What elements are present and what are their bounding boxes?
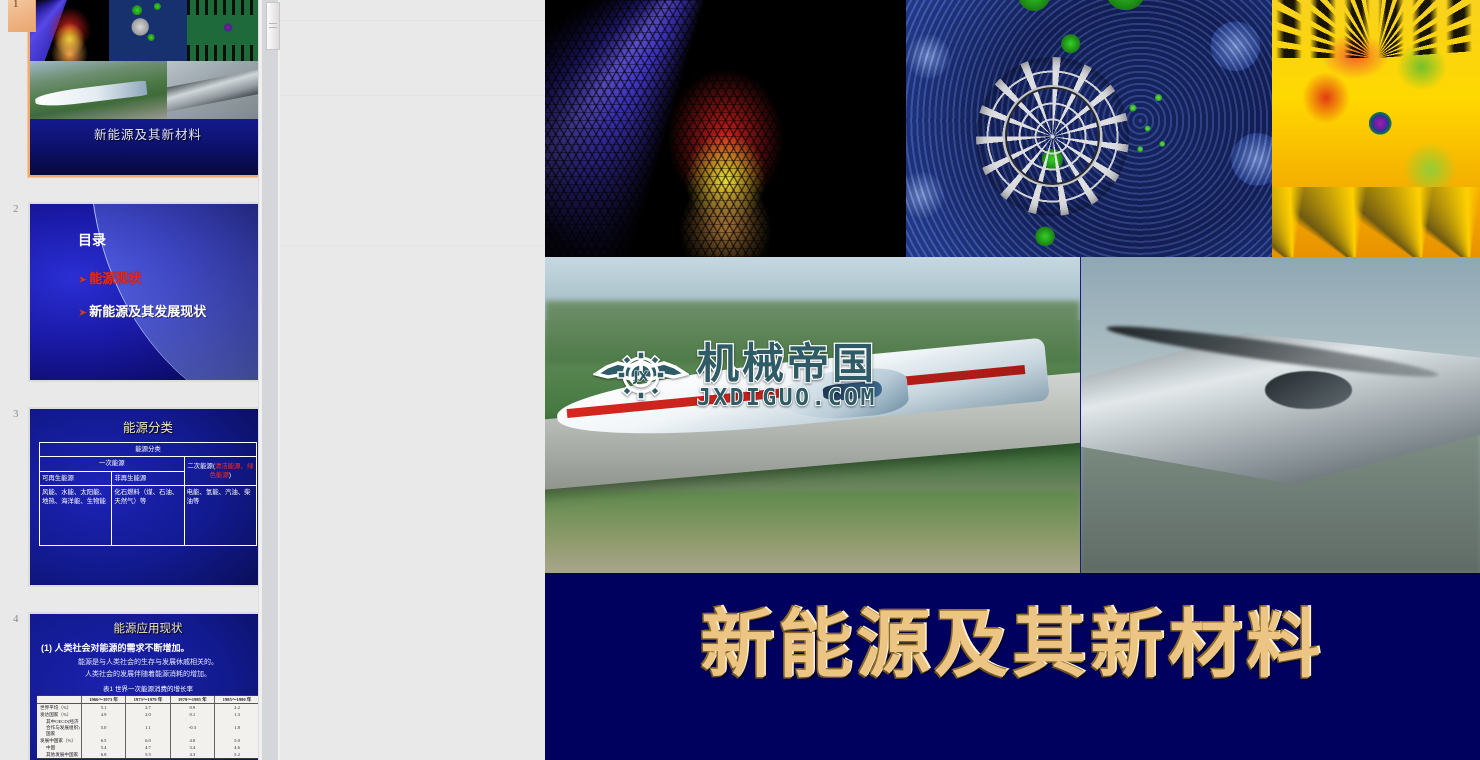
watermark-chinese-label: 机械帝国 xyxy=(697,343,877,385)
slide-title-band: 新能源及其新材料 xyxy=(545,573,1480,760)
carbon-nanotube-image xyxy=(545,0,906,257)
slide-2-frame[interactable]: 目录 ➤能源现状 ➤新能源及其发展现状 xyxy=(28,202,268,382)
col-head-2: 1973～1979 年 xyxy=(126,696,170,704)
secondary-items-cell: 电能、氢能、汽油、柴油等 xyxy=(184,485,256,545)
secondary-header-main: 二次能源( xyxy=(187,463,215,470)
row-value: 5.4 xyxy=(81,744,125,751)
gutter-seam xyxy=(280,20,545,21)
row-value: 0.1 xyxy=(170,711,214,718)
slide-4-canvas: 能源应用现状 (1) 人类社会对能源的需求不断增加。 能源是与人类社会的生存与发… xyxy=(30,614,266,760)
maglev-train-image: JX 机械帝国 JXDIGUO.COM xyxy=(545,257,1081,573)
row-value: 4.0 xyxy=(170,737,214,744)
slide-2-bullet-1-label: 能源现状 xyxy=(89,271,141,286)
gutter-seam xyxy=(280,245,545,246)
nanotube-vignette-overlay xyxy=(545,0,906,257)
slide-4-subline-1: 能源是与人类社会的生存与发展休戚相关的。 xyxy=(37,657,259,667)
energy-growth-table-wrapper: 1966～1973 年 1973～1979 年 1979～1985 年 1985… xyxy=(37,695,259,759)
row-value: 1.3 xyxy=(215,711,259,718)
scrollbar-grip-line xyxy=(269,23,277,24)
slide-4-table-caption: 表1 世界一次能源消费的增长率 xyxy=(37,683,259,693)
table-row: 中国 5.4 4.7 3.4 4.6 xyxy=(37,744,259,751)
row-label: 其中OECD(经济合作与发展组织)国家 xyxy=(37,718,81,737)
carbon-nanotube-thumb-image xyxy=(30,0,109,61)
row-value: 5.0 xyxy=(81,718,125,737)
slide-3-frame[interactable]: 能源分类 能源分类 一次能源 二次能源(清洁能源、绿色能源) 可再生能源 xyxy=(28,407,268,587)
row-value: 2.0 xyxy=(126,711,170,718)
afm-heatmap-thumb-image xyxy=(187,0,266,61)
stealth-bomber-image xyxy=(1081,257,1480,573)
row-value: 6.8 xyxy=(81,751,125,758)
col-head-0 xyxy=(37,696,81,704)
nonrenewable-items-cell: 化石燃料（煤、石油、天然气）等 xyxy=(112,485,184,545)
table-row: 发达国家（%） 4.9 2.0 0.1 1.3 xyxy=(37,711,259,718)
main-slide-canvas[interactable]: JX 机械帝国 JXDIGUO.COM 新能源及其新材料 xyxy=(545,0,1480,760)
row-value: 6.5 xyxy=(81,737,125,744)
slide-3-canvas: 能源分类 能源分类 一次能源 二次能源(清洁能源、绿色能源) 可再生能源 xyxy=(30,409,266,585)
energy-classification-table: 能源分类 一次能源 二次能源(清洁能源、绿色能源) 可再生能源 非再生能源 xyxy=(39,442,257,546)
energy-growth-table: 1966～1973 年 1973～1979 年 1979～1985 年 1985… xyxy=(37,696,259,758)
slide-1-title: 新能源及其新材料 xyxy=(30,119,266,177)
row-label: 世界平均（%） xyxy=(37,704,81,712)
row-value: 2.7 xyxy=(126,704,170,712)
slide-1-canvas: 新能源及其新材料 xyxy=(30,0,266,177)
row-value: 4.9 xyxy=(81,711,125,718)
row-value: 5.1 xyxy=(81,704,125,712)
col-head-4: 1985～1990 年 xyxy=(215,696,259,704)
slide-2-heading: 目录 xyxy=(78,230,266,250)
stealth-bomber-thumb-image xyxy=(167,61,266,119)
col-head-1: 1966～1973 年 xyxy=(81,696,125,704)
row-value: 4.6 xyxy=(215,744,259,751)
row-value: 2.2 xyxy=(215,704,259,712)
slide-thumbnail-1[interactable]: 1 新能源及其新材料 xyxy=(0,0,280,197)
slide-thumbnail-panel[interactable]: 1 新能源及其新材料 xyxy=(0,0,280,760)
slide-viewer-window: 1 新能源及其新材料 xyxy=(0,0,1480,760)
thumbnail-panel-scrollbar[interactable] xyxy=(258,0,280,760)
fullerene-buckyball-image xyxy=(906,0,1272,257)
watermark-url-label: JXDIGUO.COM xyxy=(697,387,877,410)
row-value: 1.8 xyxy=(215,718,259,737)
slide-image-row-top xyxy=(545,0,1480,257)
slide-2-canvas: 目录 ➤能源现状 ➤新能源及其发展现状 xyxy=(30,204,266,380)
slide-number-2: 2 xyxy=(13,203,19,215)
col-head-3: 1979～1985 年 xyxy=(170,696,214,704)
jet-canopy xyxy=(1265,371,1353,409)
empty-gutter-area xyxy=(280,0,545,760)
row-value: -0.3 xyxy=(170,718,214,737)
row-value: 5.5 xyxy=(126,751,170,758)
row-value: 6.0 xyxy=(126,737,170,744)
fullerene-buckyball-thumb-image xyxy=(109,0,188,61)
fullerene-cage-overlay xyxy=(976,57,1130,216)
renewable-subheader: 可再生能源 xyxy=(40,471,112,485)
watermark-text: 机械帝国 JXDIGUO.COM xyxy=(697,343,877,410)
scrollbar-track[interactable] xyxy=(262,0,278,760)
slide-thumbnail-list: 1 新能源及其新材料 xyxy=(0,0,280,760)
afm-heatmap-image xyxy=(1272,0,1480,257)
slide-4-point-1: (1) 人类社会对能源的需求不断增加。 xyxy=(41,641,259,654)
train-foreground-layer xyxy=(545,491,1080,573)
slide-2-bullet-2-label: 新能源及其发展现状 xyxy=(89,304,206,319)
slide-1-image-row-bottom xyxy=(30,61,266,119)
row-value: 3.4 xyxy=(170,744,214,751)
secondary-header-red: 清洁能源、绿色能源 xyxy=(210,463,254,479)
row-value: 5.2 xyxy=(215,751,259,758)
slide-4-subline-2: 人类社会的发展伴随着能源消耗的增加。 xyxy=(37,669,259,679)
row-value: 4.7 xyxy=(126,744,170,751)
slide-4-frame[interactable]: 能源应用现状 (1) 人类社会对能源的需求不断增加。 能源是与人类社会的生存与发… xyxy=(28,612,268,760)
row-label: 发展中国家（%） xyxy=(37,737,81,744)
secondary-header-tail: ) xyxy=(229,472,231,479)
slide-number-4: 4 xyxy=(13,613,19,625)
table-caption-cell: 能源分类 xyxy=(40,443,257,457)
table-row: 世界平均（%） 5.1 2.7 0.9 2.2 xyxy=(37,704,259,712)
slide-image-row-bottom: JX 机械帝国 JXDIGUO.COM xyxy=(545,257,1480,573)
row-value: 1.1 xyxy=(126,718,170,737)
gutter-seam xyxy=(280,95,545,96)
slide-1-frame[interactable]: 新能源及其新材料 xyxy=(28,0,268,177)
maglev-train-thumb-image xyxy=(30,61,167,119)
table-row: 其他发展中国家 6.8 5.5 4.3 5.2 xyxy=(37,751,259,758)
slide-thumbnail-2[interactable]: 2 目录 ➤能源现状 ➤新能源及其发展现状 xyxy=(0,197,280,402)
slide-thumbnail-4[interactable]: 4 能源应用现状 (1) 人类社会对能源的需求不断增加。 能源是与人类社会的生存… xyxy=(0,607,280,760)
row-label: 发达国家（%） xyxy=(37,711,81,718)
slide-number-1: 1 xyxy=(13,0,19,10)
row-value: 0.9 xyxy=(170,704,214,712)
renewable-items-cell: 风能、水能、太阳能、地热、海洋能、生物能 xyxy=(40,485,112,545)
table-row: 发展中国家（%） 6.5 6.0 4.0 5.0 xyxy=(37,737,259,744)
bullet-arrow-icon: ➤ xyxy=(78,274,87,286)
primary-energy-header: 一次能源 xyxy=(40,457,185,471)
slide-title: 新能源及其新材料 xyxy=(545,585,1480,692)
scrollbar-thumb[interactable] xyxy=(266,2,280,50)
scrollbar-grip-line xyxy=(269,27,277,28)
bullet-arrow-icon: ➤ xyxy=(78,307,87,319)
slide-2-bullet-1: ➤能源现状 xyxy=(78,268,266,287)
nonrenewable-subheader: 非再生能源 xyxy=(112,471,184,485)
table-header-row: 1966～1973 年 1973～1979 年 1979～1985 年 1985… xyxy=(37,696,259,704)
table-row: 其中OECD(经济合作与发展组织)国家 5.0 1.1 -0.3 1.8 xyxy=(37,718,259,737)
svg-text:JX: JX xyxy=(633,370,649,385)
slide-3-heading: 能源分类 xyxy=(39,417,257,436)
row-value: 4.3 xyxy=(170,751,214,758)
watermark: JX 机械帝国 JXDIGUO.COM xyxy=(593,343,877,410)
secondary-energy-header: 二次能源(清洁能源、绿色能源) xyxy=(184,457,256,486)
winged-gear-logo-icon: JX xyxy=(593,346,689,408)
slide-thumbnail-3[interactable]: 3 能源分类 能源分类 一次能源 二次能源(清洁能源、绿色能源) xyxy=(0,402,280,607)
afm-spikes-top xyxy=(1272,0,1480,58)
slide-2-bullet-2: ➤新能源及其发展现状 xyxy=(78,301,266,320)
row-label: 中国 xyxy=(37,744,81,751)
slide-number-3: 3 xyxy=(13,408,19,420)
slide-1-image-row-top xyxy=(30,0,266,61)
row-value: 5.0 xyxy=(215,737,259,744)
row-label: 其他发展中国家 xyxy=(37,751,81,758)
slide-4-heading: 能源应用现状 xyxy=(37,620,259,636)
afm-cones-bottom xyxy=(1272,187,1480,257)
